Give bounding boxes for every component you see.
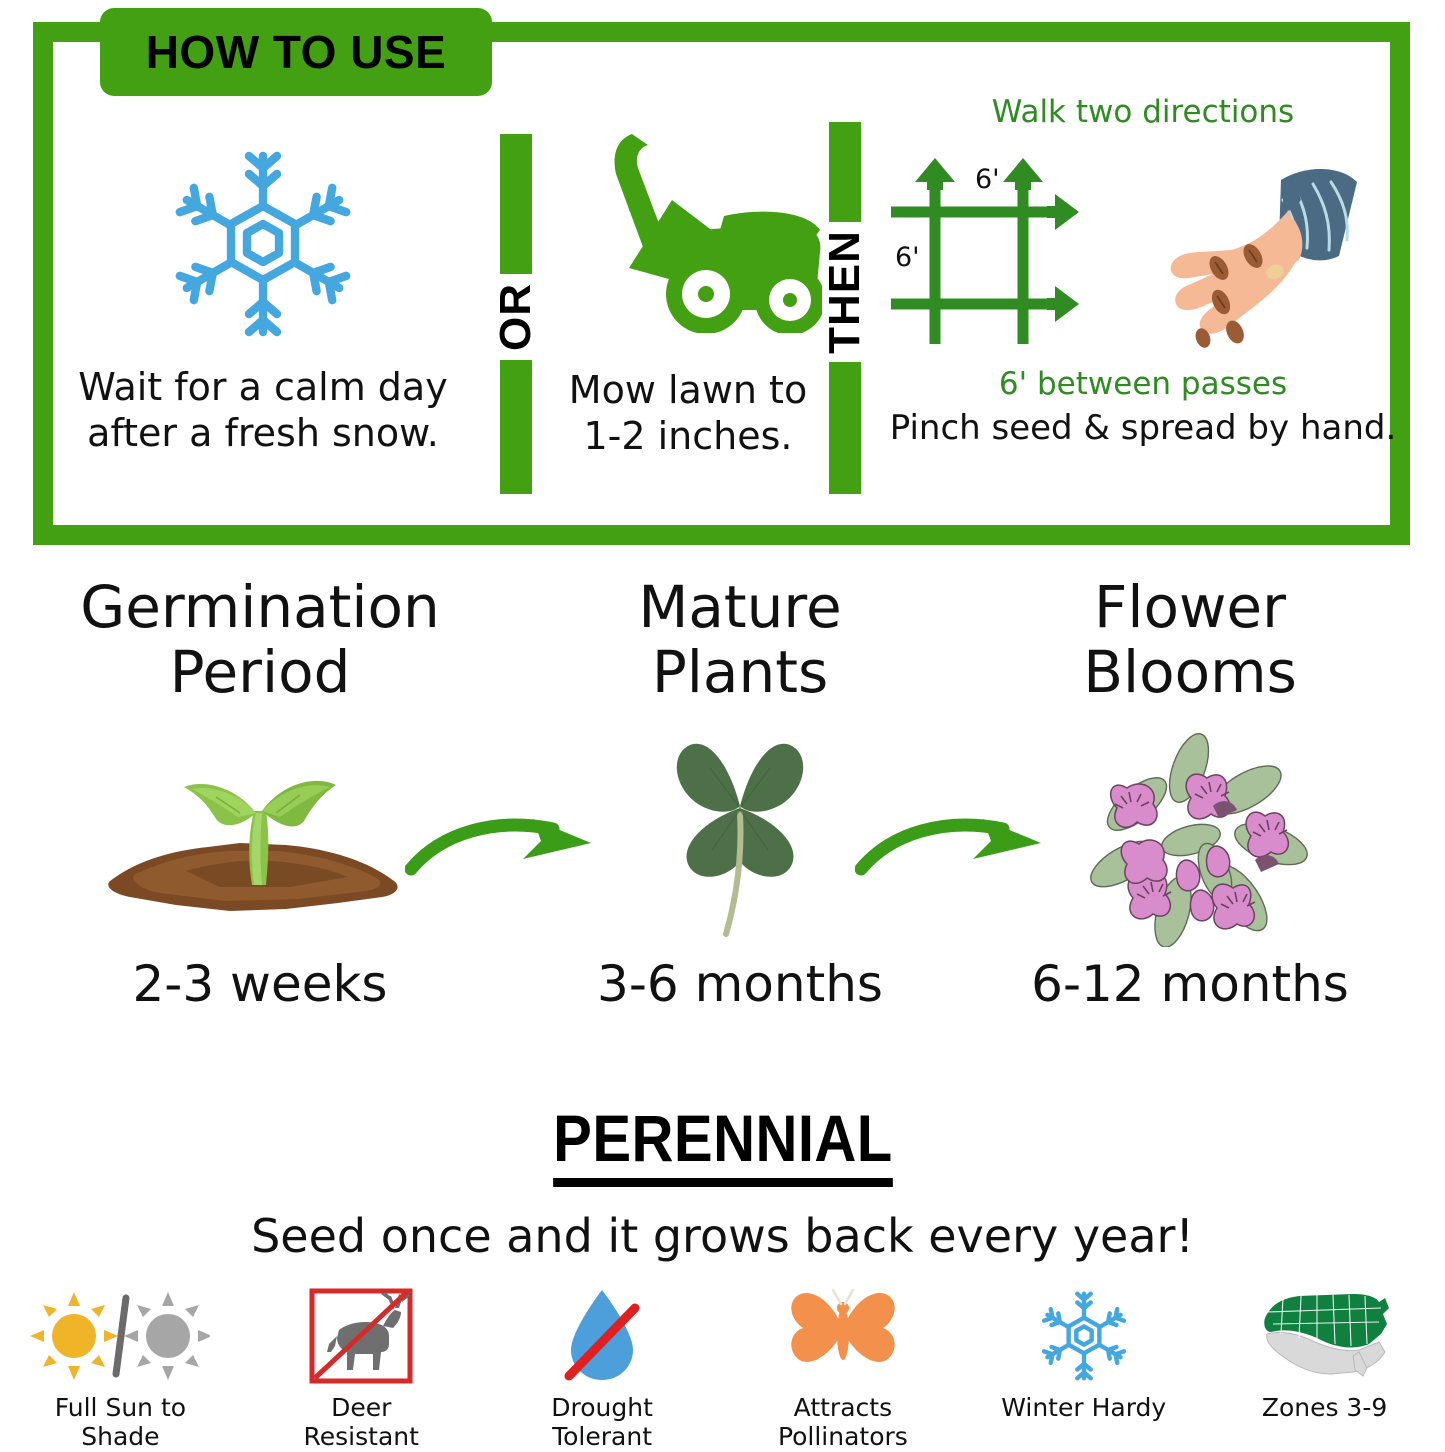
feature-label: Full Sun to Shade (15, 1394, 225, 1452)
divider-then-label: THEN (820, 230, 870, 354)
feature-full-sun-to-shade: Full Sun to Shade (15, 1282, 225, 1452)
pinch-seed-label: Pinch seed & spread by hand. (873, 408, 1413, 448)
how-to-use-title: HOW TO USE (146, 25, 447, 79)
feature-winter-hardy: Winter Hardy (979, 1282, 1189, 1423)
feature-label: Drought Tolerant (551, 1394, 653, 1452)
stage-duration: 2-3 weeks (60, 955, 460, 1013)
stage-mature-plants: Mature Plants 3-6 months (540, 575, 940, 1013)
divider-or: OR (500, 134, 532, 494)
stage-duration: 6-12 months (990, 955, 1390, 1013)
step-spread-seed: Walk two directions (873, 94, 1413, 524)
how-to-use-tab: HOW TO USE (100, 8, 492, 96)
divider-bar-top (829, 122, 861, 222)
step-caption-snow: Wait for a calm day after a fresh snow. (78, 364, 447, 457)
stage-title: Germination Period (60, 575, 460, 705)
step-caption-mow: Mow lawn to 1-2 inches. (569, 367, 807, 460)
feature-deer-resistant: Deer Resistant (256, 1282, 466, 1452)
pink-flower-cluster-icon (990, 705, 1390, 955)
butterfly-icon (783, 1282, 903, 1390)
drought-tolerant-icon (557, 1282, 647, 1390)
between-passes-label: 6' between passes (873, 366, 1413, 402)
feature-drought-tolerant: Drought Tolerant (497, 1282, 707, 1452)
perennial-heading: PERENNIAL (553, 1100, 893, 1187)
svg-text:6': 6' (895, 242, 920, 273)
perennial-section: PERENNIAL Seed once and it grows back ev… (0, 1100, 1445, 1263)
divider-bar-bottom (500, 360, 532, 494)
snowflake-icon (163, 144, 363, 348)
divider-bar-top (500, 134, 532, 274)
feature-zones: Zones 3-9 (1220, 1282, 1430, 1423)
deer-resistant-icon (309, 1282, 413, 1390)
stage-germination: Germination Period 2-3 wee (60, 575, 460, 1013)
feature-label: Winter Hardy (1001, 1394, 1166, 1423)
stage-duration: 3-6 months (540, 955, 940, 1013)
perennial-subtitle: Seed once and it grows back every year! (0, 1209, 1445, 1263)
growth-stages: Germination Period 2-3 wee (0, 575, 1445, 1075)
walk-directions-label: Walk two directions (873, 94, 1413, 130)
sun-and-shade-icon (30, 1282, 210, 1390)
svg-text:6': 6' (975, 164, 1000, 195)
feature-badges-row: Full Sun to Shade D (0, 1282, 1445, 1452)
feature-label: Attracts Pollinators (778, 1394, 908, 1452)
feature-label: Zones 3-9 (1262, 1394, 1387, 1423)
step-wait-for-snow: Wait for a calm day after a fresh snow. (53, 118, 473, 518)
divider-or-label: OR (491, 283, 541, 351)
feature-label: Deer Resistant (304, 1394, 419, 1452)
snowflake-icon (1036, 1282, 1132, 1390)
walk-pattern-grid-icon: 6' 6' (883, 144, 1093, 348)
usa-zone-map-icon (1255, 1282, 1395, 1390)
how-to-use-content: Wait for a calm day after a fresh snow. … (33, 22, 1410, 545)
stage-flower-blooms: Flower Blooms (990, 575, 1390, 1013)
stage-title: Flower Blooms (990, 575, 1390, 705)
divider-bar-bottom (829, 362, 861, 494)
lawn-mower-icon (554, 118, 822, 337)
hand-spreading-seed-icon (1143, 160, 1371, 354)
feature-attracts-pollinators: Attracts Pollinators (738, 1282, 948, 1452)
seedling-in-soil-icon (60, 705, 460, 955)
stage-title: Mature Plants (540, 575, 940, 705)
divider-then: THEN (829, 122, 861, 494)
